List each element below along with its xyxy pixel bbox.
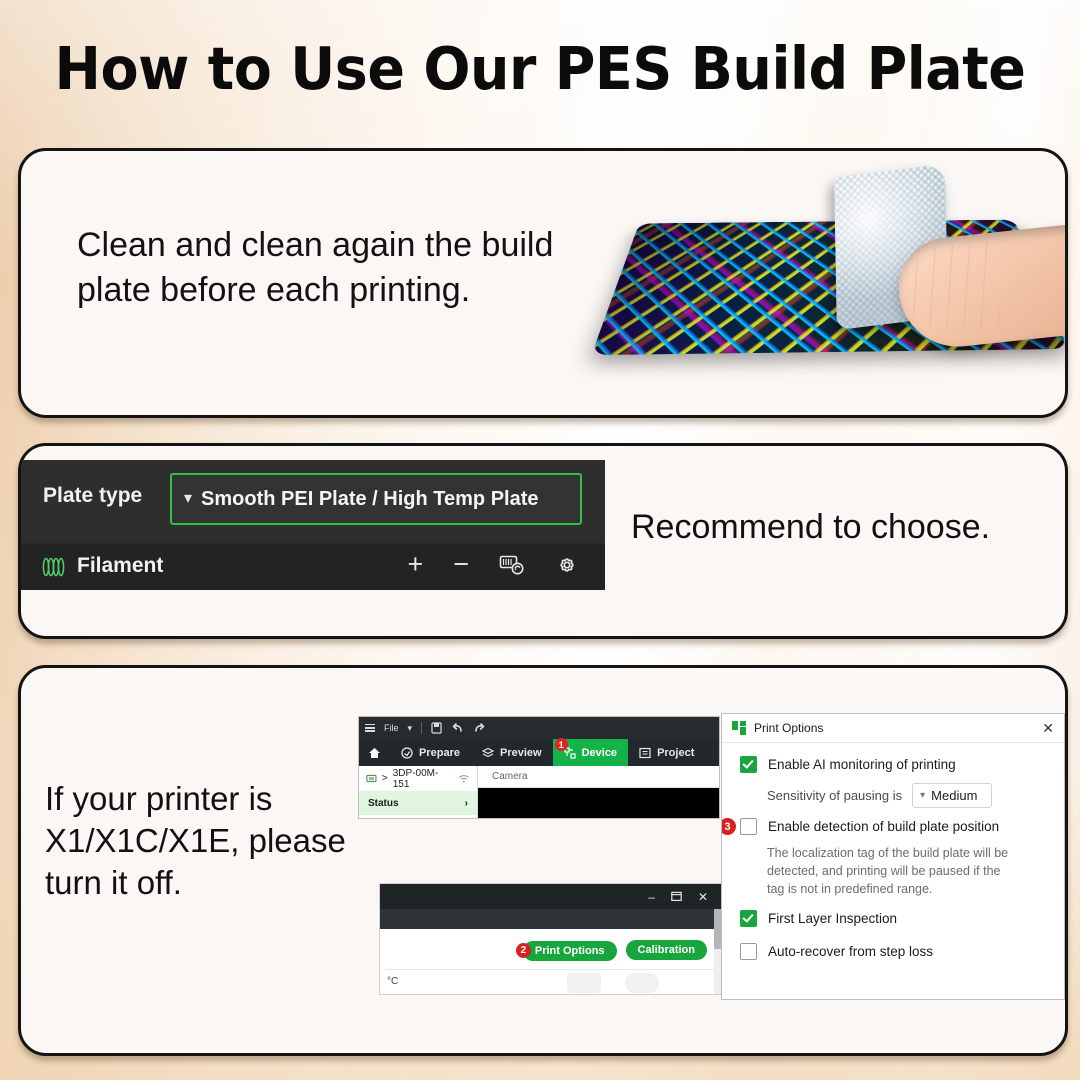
checkbox-first-layer[interactable] (740, 910, 757, 927)
gear-icon[interactable] (555, 553, 579, 577)
sensitivity-row: Sensitivity of pausing is ▾ Medium (767, 783, 1048, 808)
sensitivity-value: Medium (931, 788, 977, 803)
camera-pane: Camera (478, 766, 719, 818)
sidebar-item-status[interactable]: Status › (359, 791, 477, 815)
checkbox-ai-monitoring[interactable] (740, 756, 757, 773)
scrollbar-track[interactable] (714, 909, 721, 994)
chevron-down-icon: ▾ (184, 488, 192, 508)
option-ai-monitoring[interactable]: Enable AI monitoring of printing (740, 756, 1048, 773)
option-plate-detection-label: Enable detection of build plate position (768, 819, 999, 834)
save-icon[interactable] (431, 722, 442, 734)
tab-preview[interactable]: Preview (471, 739, 553, 766)
option-auto-recover[interactable]: Auto-recover from step loss (740, 943, 1048, 960)
content-divider (386, 969, 715, 970)
slicer-body: > 3DP-00M-151 Status › Camera (359, 766, 719, 818)
plate-detection-description: The localization tag of the build plate … (767, 845, 1017, 898)
filament-row: Filament + − (18, 544, 605, 590)
print-options-badge: 2 (516, 943, 531, 958)
scrollbar-thumb[interactable] (714, 909, 721, 949)
minus-icon[interactable]: − (453, 551, 469, 578)
printer-icon (366, 773, 377, 784)
action-buttons: 2 Print Options Calibration (523, 940, 707, 960)
plate-detection-badge: 3 (721, 818, 736, 835)
dialog-body: Enable AI monitoring of printing Sensiti… (722, 743, 1064, 960)
hamburger-icon[interactable] (365, 724, 375, 732)
filament-actions: + − (407, 551, 579, 578)
camera-label: Camera (478, 766, 719, 788)
chevron-down-icon[interactable]: ▾ (408, 723, 413, 734)
slicer-secondary-window: – ✕ 2 Print Options Calibration °C (379, 883, 722, 995)
plate-type-value: Smooth PEI Plate / High Temp Plate (201, 488, 538, 511)
print-options-button[interactable]: Print Options (523, 941, 617, 961)
home-tab[interactable] (359, 739, 390, 766)
panel-turn-off: If your printer is X1/X1C/X1E, please tu… (18, 665, 1068, 1056)
build-plate-photo (599, 159, 1068, 409)
menubar-divider (421, 722, 422, 734)
app-logo-icon (732, 721, 746, 735)
device-separator: > (382, 773, 388, 784)
panel-clean-plate: Clean and clean again the build plate be… (18, 148, 1068, 418)
device-tab-badge: 1 (555, 738, 568, 751)
close-icon[interactable]: ✕ (698, 890, 708, 904)
panel-plate-type: Plate type ▾ Smooth PEI Plate / High Tem… (18, 443, 1068, 639)
dialog-title: Print Options (754, 721, 1034, 735)
sensitivity-select[interactable]: ▾ Medium (912, 783, 992, 808)
status-label: Status (368, 798, 399, 809)
slicer-tabs: Prepare Preview 1 Device Project (359, 739, 719, 766)
checkbox-plate-detection[interactable] (740, 818, 757, 835)
panel-turn-off-text: If your printer is X1/X1C/X1E, please tu… (45, 778, 375, 905)
tab-project-label: Project (657, 747, 694, 759)
minimize-icon[interactable]: – (648, 890, 655, 904)
print-options-dialog: Print Options ✕ Enable AI monitoring of … (721, 713, 1065, 1000)
slicer-device-window: File ▾ Prepare Preview 1 Device (358, 716, 720, 819)
redo-icon[interactable] (473, 722, 486, 734)
temp-chip-right[interactable] (625, 973, 659, 993)
temperature-unit: °C (387, 976, 398, 987)
window-titlebar: – ✕ (380, 884, 721, 909)
slicer-menubar: File ▾ (359, 717, 719, 739)
project-icon (639, 747, 651, 759)
tab-prepare[interactable]: Prepare (390, 739, 471, 766)
recommend-caption: Recommend to choose. (631, 508, 990, 547)
temp-chip-left[interactable] (567, 973, 601, 993)
page-title: How to Use Our PES Build Plate (32, 34, 1047, 103)
dialog-header: Print Options ✕ (722, 714, 1064, 743)
plate-type-dropdown[interactable]: ▾ Smooth PEI Plate / High Temp Plate (170, 473, 582, 525)
home-icon (368, 747, 381, 759)
checkbox-auto-recover[interactable] (740, 943, 757, 960)
hand-fingers (901, 241, 1001, 336)
maximize-icon[interactable] (671, 891, 682, 902)
tab-device-label: Device (582, 747, 617, 759)
camera-video-area[interactable] (478, 788, 719, 819)
option-first-layer-label: First Layer Inspection (768, 911, 897, 926)
device-name: 3DP-00M-151 (393, 768, 449, 790)
undo-icon[interactable] (451, 722, 464, 734)
filament-icon (41, 556, 65, 578)
filament-label: Filament (77, 554, 163, 578)
slicer-plate-strip: Plate type ▾ Smooth PEI Plate / High Tem… (18, 460, 605, 590)
option-first-layer[interactable]: First Layer Inspection (740, 910, 1048, 927)
preview-icon (482, 747, 494, 759)
device-breadcrumb[interactable]: > 3DP-00M-151 (359, 766, 477, 791)
chevron-right-icon: › (465, 798, 468, 809)
option-ai-monitoring-label: Enable AI monitoring of printing (768, 757, 956, 772)
panel-clean-text: Clean and clean again the build plate be… (77, 223, 617, 313)
option-plate-detection[interactable]: 3 Enable detection of build plate positi… (740, 818, 1048, 835)
prepare-icon (401, 747, 413, 759)
calibration-button[interactable]: Calibration (626, 940, 707, 960)
tab-device[interactable]: 1 Device (553, 739, 628, 766)
tab-prepare-label: Prepare (419, 747, 460, 759)
file-menu-label[interactable]: File (384, 723, 399, 733)
chevron-down-icon: ▾ (920, 790, 925, 801)
window-subbar (380, 909, 721, 929)
plus-icon[interactable]: + (407, 551, 423, 578)
device-sidebar: > 3DP-00M-151 Status › (359, 766, 478, 818)
window-content: 2 Print Options Calibration °C (380, 929, 721, 994)
close-icon[interactable]: ✕ (1042, 720, 1054, 737)
tab-preview-label: Preview (500, 747, 542, 759)
sensitivity-label: Sensitivity of pausing is (767, 788, 902, 803)
plate-type-label: Plate type (43, 484, 142, 508)
option-auto-recover-label: Auto-recover from step loss (768, 944, 933, 959)
tab-project[interactable]: Project (628, 739, 705, 766)
wifi-icon (458, 774, 470, 784)
plate-type-row: Plate type ▾ Smooth PEI Plate / High Tem… (18, 460, 605, 538)
filament-sync-icon[interactable] (499, 554, 525, 576)
